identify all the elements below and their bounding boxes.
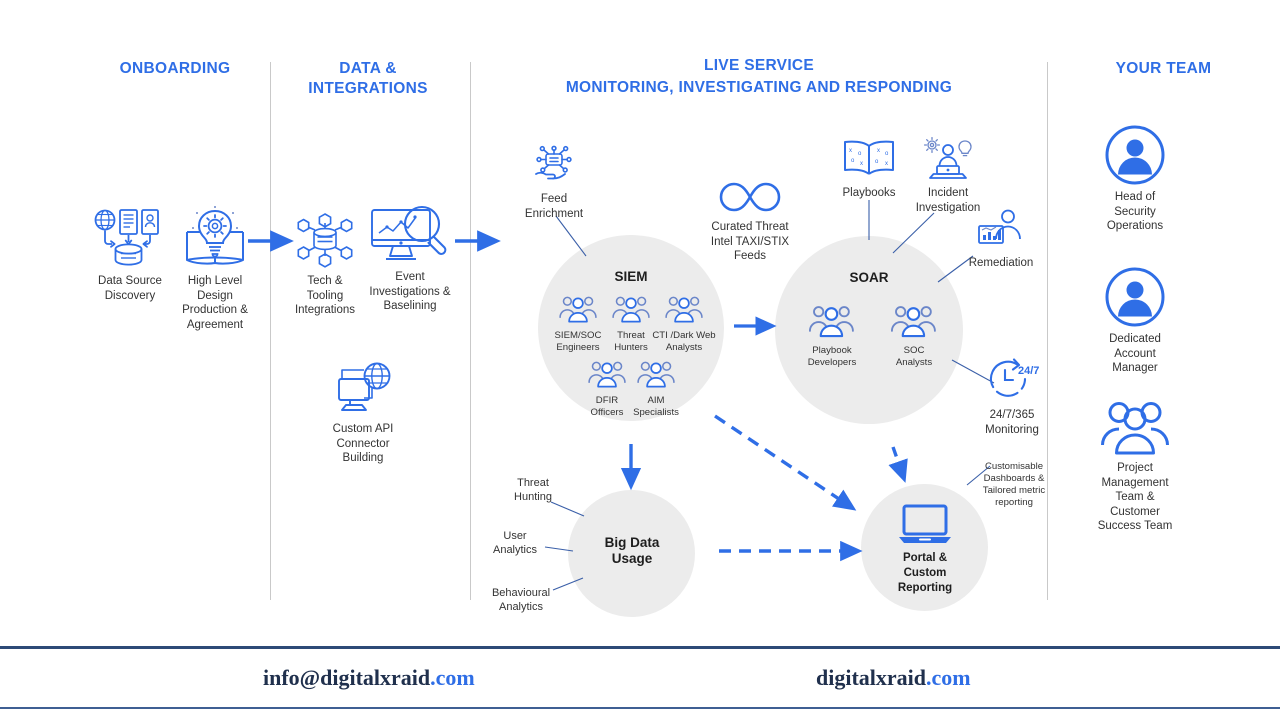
node-data-source-discovery[interactable]: Data Source Discovery (80, 208, 180, 303)
soar-role-playbook-developers[interactable]: Playbook Developers (795, 303, 869, 368)
node-label: Playbooks (828, 186, 910, 201)
node-label: Custom API Connector Building (320, 422, 406, 466)
people-icon (890, 303, 938, 339)
spoke-behavioural-analytics: Behavioural Analytics (477, 582, 565, 614)
team-member-dedicated-account-manager[interactable]: Dedicated Account Manager (1085, 266, 1185, 376)
team-member-label: Dedicated Account Manager (1085, 332, 1185, 376)
lightbulb-book-icon (184, 204, 246, 270)
footer-email-main: info@digitalxraid (263, 665, 430, 690)
svg-text:x: x (860, 161, 863, 167)
spoke-label: Customisable Dashboards & Tailored metri… (970, 461, 1058, 509)
laptop-icon (895, 503, 955, 547)
node-label: High Level Design Production & Agreement (170, 274, 260, 332)
node-label: Data Source Discovery (80, 274, 180, 303)
node-playbooks[interactable]: xo ox xo ox Playbooks (828, 138, 910, 201)
svg-text:x: x (877, 148, 880, 154)
svg-text:x: x (849, 148, 852, 154)
node-event-investigations[interactable]: Event Investigations & Baselining (360, 204, 460, 314)
node-label: Remediation (962, 256, 1040, 271)
data-source-discovery-icon (94, 208, 166, 270)
team-member-project-management-team[interactable]: Project Management Team & Customer Succe… (1085, 401, 1185, 534)
svg-text:o: o (858, 151, 862, 157)
column-header-onboarding: ONBOARDING (75, 59, 275, 79)
spoke-label: Behavioural Analytics (477, 586, 565, 614)
divider-live-team (1047, 62, 1048, 600)
diagram-canvas: ONBOARDING DATA & INTEGRATIONS LIVE SERV… (0, 0, 1280, 720)
team-member-head-of-security-operations[interactable]: Head of Security Operations (1085, 124, 1185, 234)
node-247-monitoring[interactable]: 24/7 24/7/365 Monitoring (972, 356, 1052, 437)
people-icon (664, 294, 705, 324)
feed-enrichment-icon (530, 140, 578, 188)
role-label: SOC Analysts (877, 345, 951, 368)
node-remediation[interactable]: Remediation (962, 208, 1040, 271)
divider-data-live (470, 62, 471, 600)
column-title-text: ONBOARDING (120, 60, 231, 77)
siem-title: SIEM (571, 269, 691, 285)
big-data-title: Big Data Usage (572, 535, 692, 567)
database-network-icon (294, 210, 356, 270)
people-group-icon (1099, 401, 1171, 457)
infinity-icon (719, 178, 781, 216)
role-label: AIM Specialists (619, 395, 693, 418)
svg-text:o: o (885, 151, 889, 157)
svg-text:o: o (851, 158, 855, 164)
playbooks-book-icon: xo ox xo ox (841, 138, 897, 182)
role-label: CTI /Dark Web Analysts (644, 330, 724, 353)
clock-247-icon: 24/7 (985, 356, 1039, 404)
api-globe-monitor-icon (332, 362, 394, 418)
footer-site-tld: .com (926, 665, 971, 690)
spoke-user-analytics: User Analytics (475, 525, 555, 557)
node-label: Event Investigations & Baselining (360, 270, 460, 314)
footer-website[interactable]: digitalxraid.com (816, 665, 971, 691)
people-icon (636, 359, 677, 389)
node-label: Tech & Tooling Integrations (285, 274, 365, 318)
person-avatar-icon (1104, 266, 1166, 328)
column-title-line1: LIVE SERVICE (470, 56, 1048, 76)
column-header-live-service: LIVE SERVICE MONITORING, INVESTIGATING A… (470, 56, 1048, 98)
svg-text:o: o (875, 159, 879, 165)
team-member-label: Project Management Team & Customer Succe… (1085, 461, 1185, 534)
spoke-threat-hunting: Threat Hunting (493, 472, 573, 504)
column-title-line2: INTEGRATIONS (268, 79, 468, 99)
node-feed-enrichment[interactable]: Feed Enrichment (513, 140, 595, 221)
person-avatar-icon (1104, 124, 1166, 186)
role-label: Playbook Developers (795, 345, 869, 368)
spoke-label: Threat Hunting (493, 476, 573, 504)
column-title-line2: MONITORING, INVESTIGATING AND RESPONDING (470, 78, 1048, 98)
node-label: Curated Threat Intel TAXI/STIX Feeds (703, 220, 797, 264)
spoke-label: User Analytics (475, 529, 555, 557)
footer-email[interactable]: info@digitalxraid.com (263, 665, 475, 691)
column-title-line1: DATA & (268, 59, 468, 79)
footer-site-main: digitalxraid (816, 665, 926, 690)
team-member-label: Head of Security Operations (1085, 190, 1185, 234)
column-title-text: YOUR TEAM (1116, 60, 1212, 77)
node-tech-tooling-integrations[interactable]: Tech & Tooling Integrations (285, 210, 365, 318)
svg-text:24/7: 24/7 (1018, 365, 1039, 377)
divider-onboarding-data (270, 62, 271, 600)
spoke-customisable-dashboards: Customisable Dashboards & Tailored metri… (970, 457, 1058, 509)
footer-top-rule (0, 646, 1280, 649)
node-portal-custom-reporting[interactable]: Portal & Custom Reporting (884, 503, 966, 596)
node-curated-threat-intel[interactable]: Curated Threat Intel TAXI/STIX Feeds (703, 178, 797, 264)
siem-role-cti-dark-web-analysts[interactable]: CTI /Dark Web Analysts (644, 294, 724, 353)
soar-role-soc-analysts[interactable]: SOC Analysts (877, 303, 951, 368)
people-icon (808, 303, 856, 339)
svg-text:x: x (885, 161, 888, 167)
column-header-your-team: YOUR TEAM (1047, 59, 1280, 79)
column-header-data-integrations: DATA & INTEGRATIONS (268, 59, 468, 99)
portal-title: Portal & Custom Reporting (884, 551, 966, 596)
node-custom-api-connector[interactable]: Custom API Connector Building (320, 362, 406, 466)
node-label: 24/7/365 Monitoring (972, 408, 1052, 437)
monitor-magnifier-icon (369, 204, 451, 266)
footer-bottom-rule (0, 707, 1280, 709)
node-high-level-design[interactable]: High Level Design Production & Agreement (170, 204, 260, 332)
node-incident-investigation[interactable]: Incident Investigation (908, 136, 988, 215)
remediation-person-icon (974, 208, 1028, 252)
people-icon (558, 294, 599, 324)
footer-email-tld: .com (430, 665, 475, 690)
soar-title: SOAR (809, 270, 929, 286)
incident-investigation-icon (921, 136, 975, 182)
siem-role-aim-specialists[interactable]: AIM Specialists (619, 359, 693, 418)
node-label: Feed Enrichment (513, 192, 595, 221)
